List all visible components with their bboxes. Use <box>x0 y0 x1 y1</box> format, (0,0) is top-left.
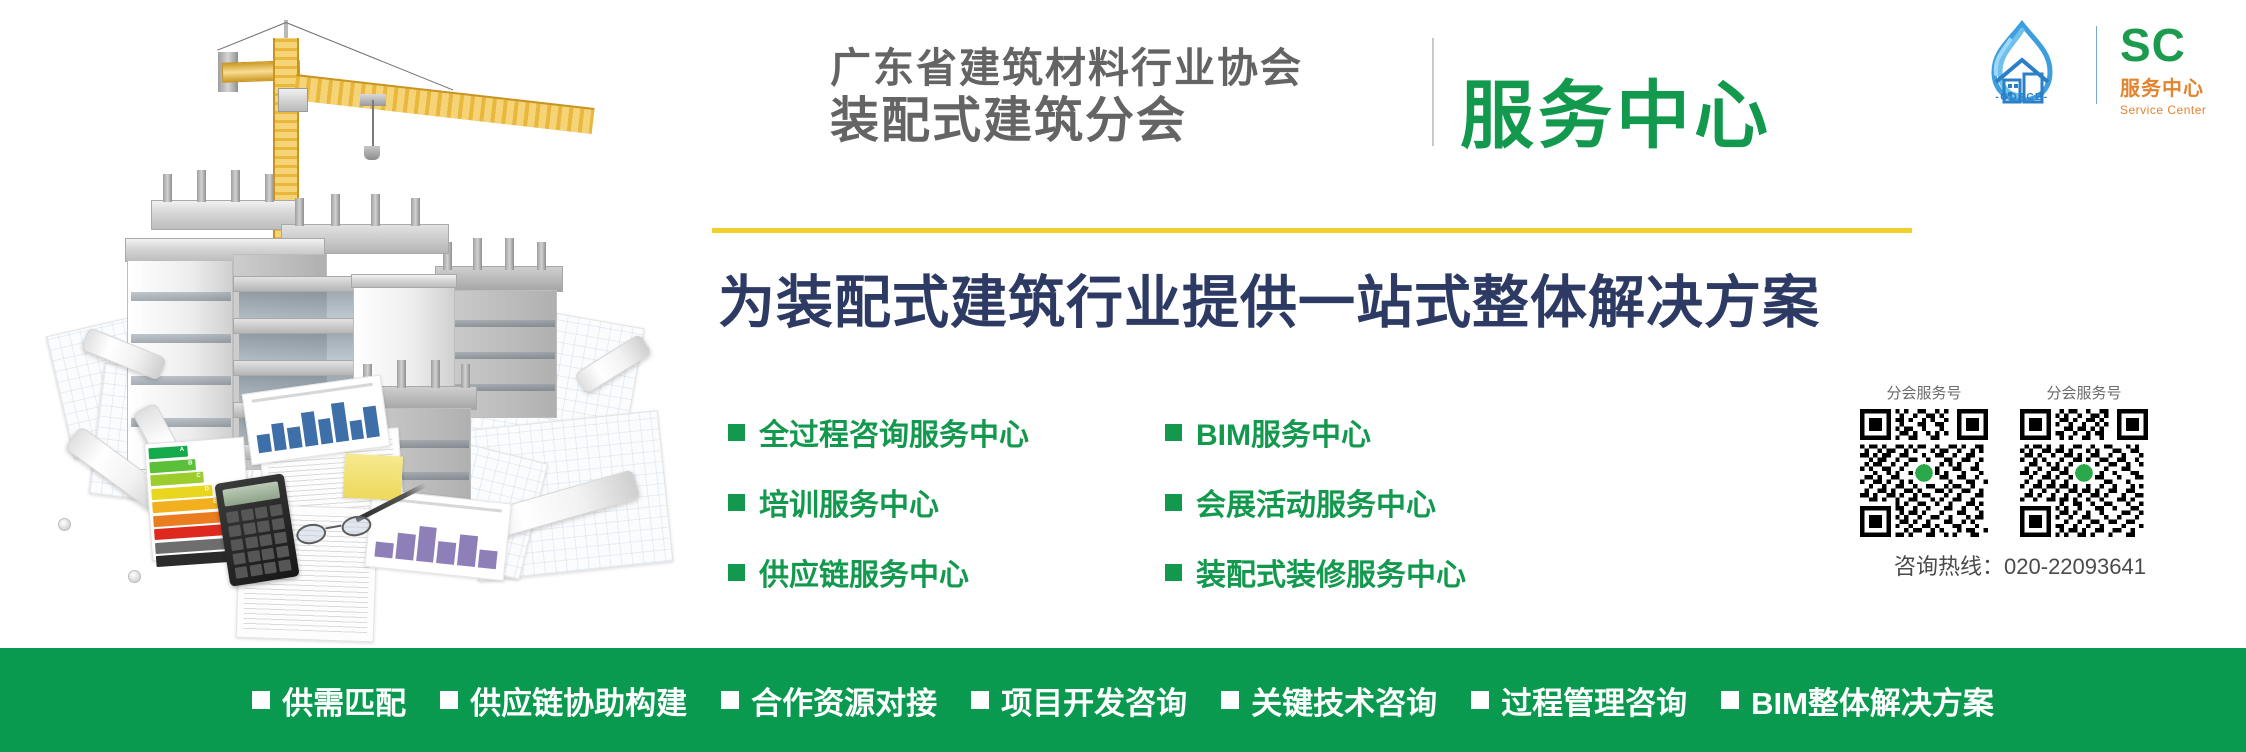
association-name-line1: 广东省建筑材料行业协会 <box>830 46 1303 91</box>
title-vertical-divider <box>1432 38 1434 146</box>
footer-item[interactable]: 关键技术咨询 <box>1221 678 1437 723</box>
crane-operator-cab <box>278 88 308 112</box>
service-item-label: 全过程咨询服务中心 <box>759 410 1029 454</box>
association-branch-name: 装配式建筑分会 <box>830 94 1303 149</box>
footer-item-label: 合作资源对接 <box>751 678 937 723</box>
square-bullet-icon <box>440 691 458 709</box>
square-bullet-icon <box>728 494 745 511</box>
footer-item-label: 过程管理咨询 <box>1501 678 1687 723</box>
service-list-left: 全过程咨询服务中心 培训服务中心 供应链服务中心 <box>728 410 1029 594</box>
gold-horizontal-rule <box>712 228 1912 233</box>
service-item-label: BIM服务中心 <box>1196 410 1371 454</box>
qr-code-icon[interactable] <box>1860 409 1988 537</box>
square-bullet-icon <box>252 691 270 709</box>
service-item[interactable]: 培训服务中心 <box>728 480 1029 524</box>
footer-item[interactable]: BIM整体解决方案 <box>1721 678 1994 723</box>
footer-item[interactable]: 供应链协助构建 <box>440 678 687 723</box>
service-item-label: 培训服务中心 <box>759 480 939 524</box>
logo-caption: -GDPCB- <box>1966 92 2078 103</box>
qr-code-block: 分会服务号 <box>2020 382 2148 537</box>
sc-english-label: Service Center <box>2120 103 2230 117</box>
construction-site-3d-render: A B C D E F G H I <box>0 0 700 648</box>
logo-lockup: -GDPCB- SC 服务中心 Service Center <box>1944 18 2236 110</box>
square-bullet-icon <box>728 564 745 581</box>
main-tagline: 为装配式建筑行业提供一站式整体解决方案 <box>718 257 1820 339</box>
logo-vertical-divider <box>2096 26 2097 104</box>
service-center-lists: 全过程咨询服务中心 培训服务中心 供应链服务中心 BIM服务中心 会展活动服务中… <box>728 410 1466 594</box>
crane-jib <box>294 74 595 134</box>
square-bullet-icon <box>1721 691 1739 709</box>
service-item[interactable]: 供应链服务中心 <box>728 550 1029 594</box>
square-bullet-icon <box>721 691 739 709</box>
service-item[interactable]: 会展活动服务中心 <box>1165 480 1466 524</box>
square-bullet-icon <box>1165 494 1182 511</box>
sticky-note <box>343 454 403 501</box>
service-item[interactable]: 全过程咨询服务中心 <box>728 410 1029 454</box>
footer-item-label: 项目开发咨询 <box>1001 678 1187 723</box>
footer-item-label: BIM整体解决方案 <box>1751 678 1994 723</box>
square-bullet-icon <box>1165 424 1182 441</box>
square-bullet-icon <box>728 424 745 441</box>
sc-letters: SC <box>2120 22 2230 68</box>
footer-services-bar: 供需匹配 供应链协助构建 合作资源对接 项目开发咨询 关键技术咨询 过程管理咨询 <box>0 648 2246 752</box>
square-bullet-icon <box>1165 564 1182 581</box>
promotional-banner: A B C D E F G H I <box>0 0 2246 752</box>
square-bullet-icon <box>1471 691 1489 709</box>
association-title-block: 广东省建筑材料行业协会 装配式建筑分会 <box>830 46 1303 149</box>
sc-logo-block: SC 服务中心 Service Center <box>2120 22 2230 117</box>
footer-item[interactable]: 项目开发咨询 <box>971 678 1187 723</box>
crane-hook <box>364 146 380 160</box>
service-item-label: 会展活动服务中心 <box>1196 480 1436 524</box>
square-bullet-icon <box>971 691 989 709</box>
drawing-roll-cap <box>128 570 141 583</box>
drawing-roll-cap <box>58 518 71 531</box>
service-item-label: 供应链服务中心 <box>759 550 969 594</box>
service-center-heading: 服务中心 <box>1460 56 1772 163</box>
qr-caption: 分会服务号 <box>1860 382 1988 403</box>
footer-item[interactable]: 供需匹配 <box>252 678 406 723</box>
qr-and-hotline-block: 分会服务号 <box>1860 382 2180 581</box>
service-item[interactable]: BIM服务中心 <box>1165 410 1466 454</box>
footer-item[interactable]: 合作资源对接 <box>721 678 937 723</box>
square-bullet-icon <box>1221 691 1239 709</box>
qr-code-icon[interactable] <box>2020 409 2148 537</box>
service-item[interactable]: 装配式装修服务中心 <box>1165 550 1466 594</box>
footer-item-label: 供需匹配 <box>282 678 406 723</box>
footer-item-label: 供应链协助构建 <box>470 678 687 723</box>
service-item-label: 装配式装修服务中心 <box>1196 550 1466 594</box>
footer-item[interactable]: 过程管理咨询 <box>1471 678 1687 723</box>
qr-caption: 分会服务号 <box>2020 382 2148 403</box>
service-list-right: BIM服务中心 会展活动服务中心 装配式装修服务中心 <box>1165 410 1466 594</box>
footer-item-label: 关键技术咨询 <box>1251 678 1437 723</box>
crane-hook-line <box>372 100 374 148</box>
qr-code-block: 分会服务号 <box>1860 382 1988 537</box>
sc-chinese-label: 服务中心 <box>2120 72 2230 101</box>
hotline-text: 咨询热线：020-22093641 <box>1860 549 2180 581</box>
